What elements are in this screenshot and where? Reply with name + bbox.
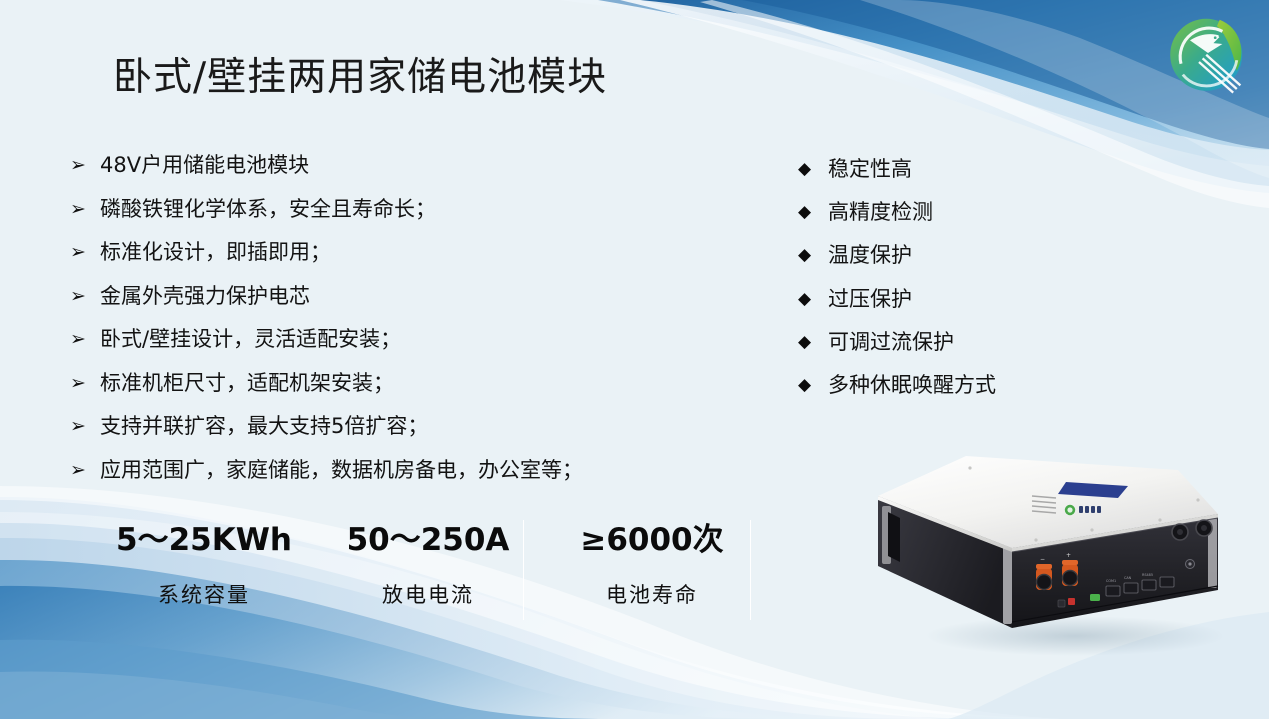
arrow-bullet-icon: ➢ — [70, 413, 100, 440]
slide-root: 卧式/壁挂两用家储电池模块 ➢ 48V户用储能电池模块 ➢ 磷酸铁锂化学体系，安… — [0, 0, 1269, 719]
list-item-label: 应用范围广，家庭储能，数据机房备电，办公室等； — [100, 457, 583, 484]
arrow-bullet-icon: ➢ — [70, 457, 100, 484]
diamond-bullet-icon: ◆ — [798, 199, 828, 225]
diamond-bullet-icon: ◆ — [798, 286, 828, 312]
list-item: ◆ 多种休眠唤醒方式 — [798, 372, 1098, 415]
list-item-label: 可调过流保护 — [828, 329, 954, 355]
page-title: 卧式/壁挂两用家储电池模块 — [113, 57, 607, 100]
company-leaf-logo — [1163, 8, 1253, 98]
arrow-bullet-icon: ➢ — [70, 370, 100, 397]
stat-value: ≥6000次 — [540, 518, 764, 562]
list-item: ◆ 高精度检测 — [798, 199, 1098, 242]
stat-divider — [523, 520, 524, 620]
list-item: ◆ 温度保护 — [798, 242, 1098, 285]
diamond-bullet-icon: ◆ — [798, 329, 828, 355]
arrow-bullet-icon: ➢ — [70, 239, 100, 266]
list-item-label: 48V户用储能电池模块 — [100, 152, 309, 179]
stat-divider — [750, 520, 751, 620]
svg-text:COM1: COM1 — [1106, 579, 1116, 583]
stat-item: ≥6000次 电池寿命 — [540, 518, 764, 620]
list-item-label: 标准机柜尺寸，适配机架安装； — [100, 370, 394, 397]
arrow-bullet-icon: ➢ — [70, 152, 100, 179]
list-item: ➢ 卧式/壁挂设计，灵活适配安装； — [70, 326, 730, 370]
list-item-label: 卧式/壁挂设计，灵活适配安装； — [100, 326, 401, 353]
stat-label: 电池寿命 — [540, 580, 764, 610]
list-item: ◆ 稳定性高 — [798, 156, 1098, 199]
right-feature-list: ◆ 稳定性高 ◆ 高精度检测 ◆ 温度保护 ◆ 过压保护 ◆ 可调过流保护 ◆ … — [798, 156, 1098, 415]
diamond-bullet-icon: ◆ — [798, 372, 828, 398]
list-item-label: 磷酸铁锂化学体系，安全且寿命长； — [100, 196, 436, 223]
arrow-bullet-icon: ➢ — [70, 283, 100, 310]
list-item: ➢ 磷酸铁锂化学体系，安全且寿命长； — [70, 196, 730, 240]
list-item: ➢ 标准机柜尺寸，适配机架安装； — [70, 370, 730, 414]
stat-value: 5〜25KWh — [92, 518, 316, 562]
list-item-label: 金属外壳强力保护电芯 — [100, 283, 310, 310]
list-item: ➢ 金属外壳强力保护电芯 — [70, 283, 730, 327]
list-item: ➢ 支持并联扩容，最大支持5倍扩容； — [70, 413, 730, 457]
list-item: ➢ 标准化设计，即插即用； — [70, 239, 730, 283]
left-feature-list: ➢ 48V户用储能电池模块 ➢ 磷酸铁锂化学体系，安全且寿命长； ➢ 标准化设计… — [70, 152, 730, 500]
battery-module-photo: − + COM1 CAN RS485 — [860, 440, 1260, 660]
list-item-label: 多种休眠唤醒方式 — [828, 372, 996, 398]
svg-text:RS485: RS485 — [1142, 573, 1153, 577]
list-item: ◆ 过压保护 — [798, 286, 1098, 329]
list-item-label: 支持并联扩容，最大支持5倍扩容； — [100, 413, 428, 440]
list-item-label: 稳定性高 — [828, 156, 912, 182]
diamond-bullet-icon: ◆ — [798, 156, 828, 182]
svg-text:+: + — [1066, 552, 1071, 559]
svg-text:−: − — [1040, 556, 1045, 563]
list-item: ➢ 应用范围广，家庭储能，数据机房备电，办公室等； — [70, 457, 730, 501]
list-item-label: 标准化设计，即插即用； — [100, 239, 331, 266]
stat-label: 系统容量 — [92, 580, 316, 610]
list-item-label: 高精度检测 — [828, 199, 933, 225]
list-item-label: 温度保护 — [828, 242, 912, 268]
stat-item: 5〜25KWh 系统容量 — [92, 518, 316, 620]
stat-value: 50〜250A — [316, 518, 540, 562]
stat-item: 50〜250A 放电电流 — [316, 518, 540, 620]
stats-row: 5〜25KWh 系统容量 50〜250A 放电电流 ≥6000次 电池寿命 — [92, 518, 764, 620]
arrow-bullet-icon: ➢ — [70, 196, 100, 223]
arrow-bullet-icon: ➢ — [70, 326, 100, 353]
diamond-bullet-icon: ◆ — [798, 242, 828, 268]
list-item: ◆ 可调过流保护 — [798, 329, 1098, 372]
svg-text:CAN: CAN — [1124, 576, 1132, 580]
stat-label: 放电电流 — [316, 580, 540, 610]
list-item: ➢ 48V户用储能电池模块 — [70, 152, 730, 196]
list-item-label: 过压保护 — [828, 286, 912, 312]
